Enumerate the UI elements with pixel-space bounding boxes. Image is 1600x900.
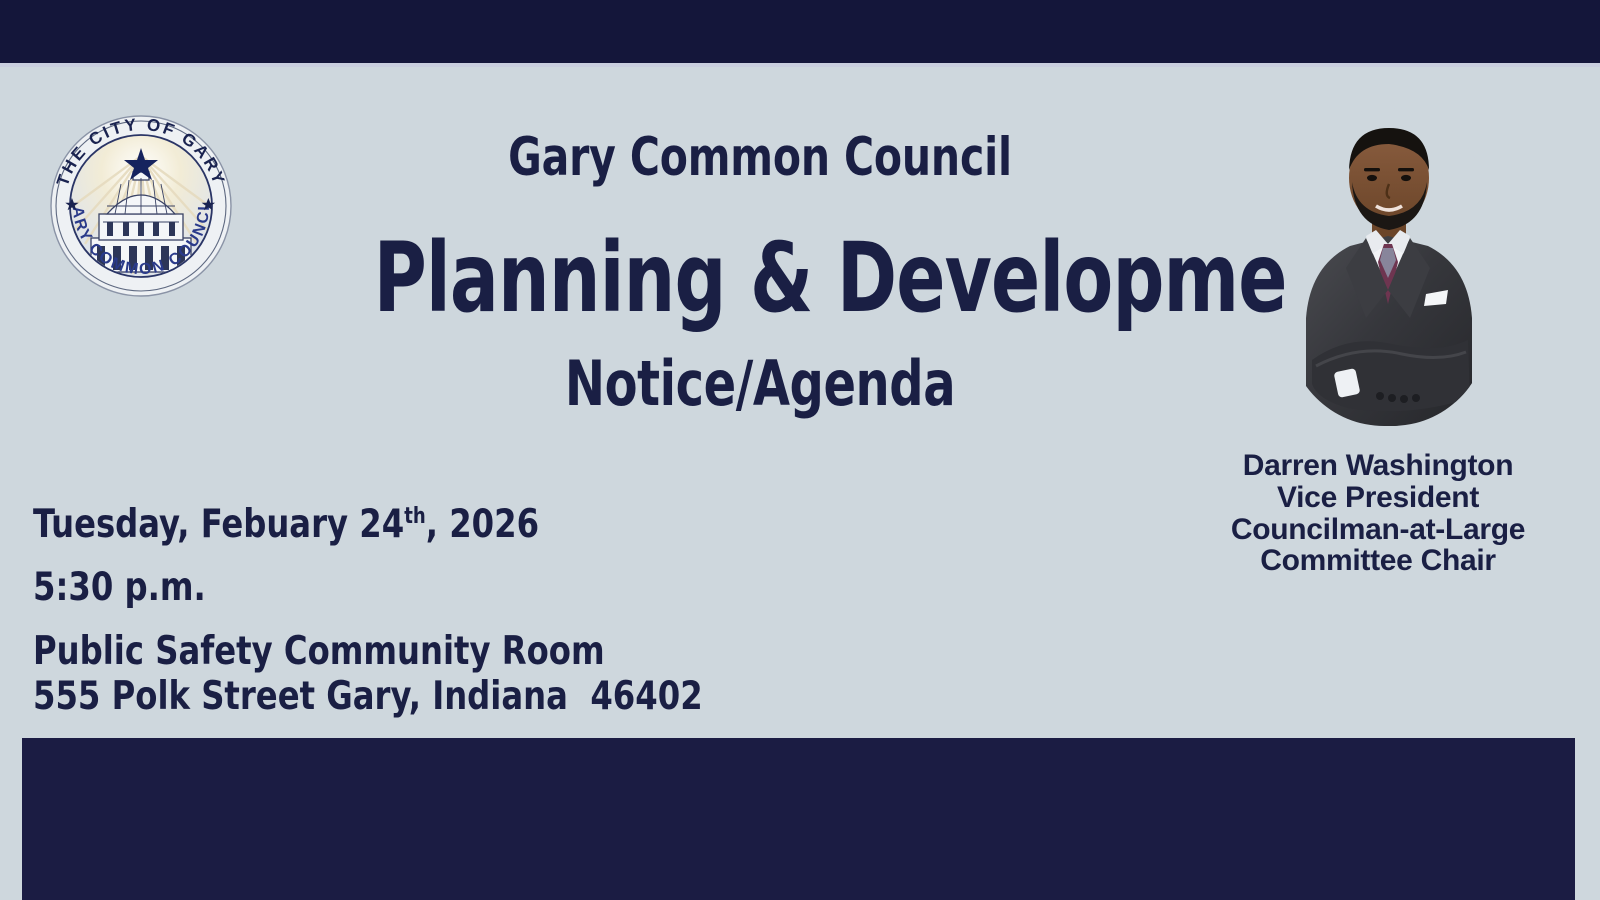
city-seal-icon: THE CITY OF GARY GARY COMMON COUNCIL	[45, 110, 237, 302]
official-committee-role: Committee Chair	[1178, 545, 1578, 577]
official-portrait-photo	[1288, 108, 1488, 426]
city-seal-logo: THE CITY OF GARY GARY COMMON COUNCIL	[45, 110, 237, 302]
event-address: 555 Polk Street Gary, Indiana 46402	[33, 677, 732, 718]
document-type: Notice/Agenda	[364, 352, 1155, 416]
official-role: Councilman-at-Large	[1178, 514, 1578, 546]
event-date-prefix: Tuesday, Febuary 24	[33, 502, 404, 547]
event-venue: Public Safety Community Room	[33, 632, 732, 673]
council-name: Gary Common Council	[364, 130, 1155, 186]
committee-name: Planning & Development	[374, 230, 1147, 328]
official-name: Darren Washington	[1178, 450, 1578, 482]
official-caption-block: Darren Washington Vice President Council…	[1178, 450, 1578, 577]
bottom-navy-block	[22, 738, 1575, 900]
top-hairline-divider	[0, 63, 1600, 67]
event-time: 5:30 p.m.	[33, 568, 732, 609]
top-navy-band	[0, 0, 1600, 63]
event-date-ordinal: th	[404, 504, 426, 529]
event-date: Tuesday, Febuary 24th, 2026	[33, 505, 732, 546]
portrait-illustration	[1288, 108, 1488, 426]
event-date-suffix: , 2026	[426, 502, 539, 547]
heading-block: Gary Common Council Planning & Developme…	[300, 130, 1220, 417]
official-title: Vice President	[1178, 482, 1578, 514]
event-details-block: Tuesday, Febuary 24th, 2026 5:30 p.m. Pu…	[33, 505, 793, 718]
flyer-canvas: THE CITY OF GARY GARY COMMON COUNCIL Gar…	[0, 0, 1600, 900]
